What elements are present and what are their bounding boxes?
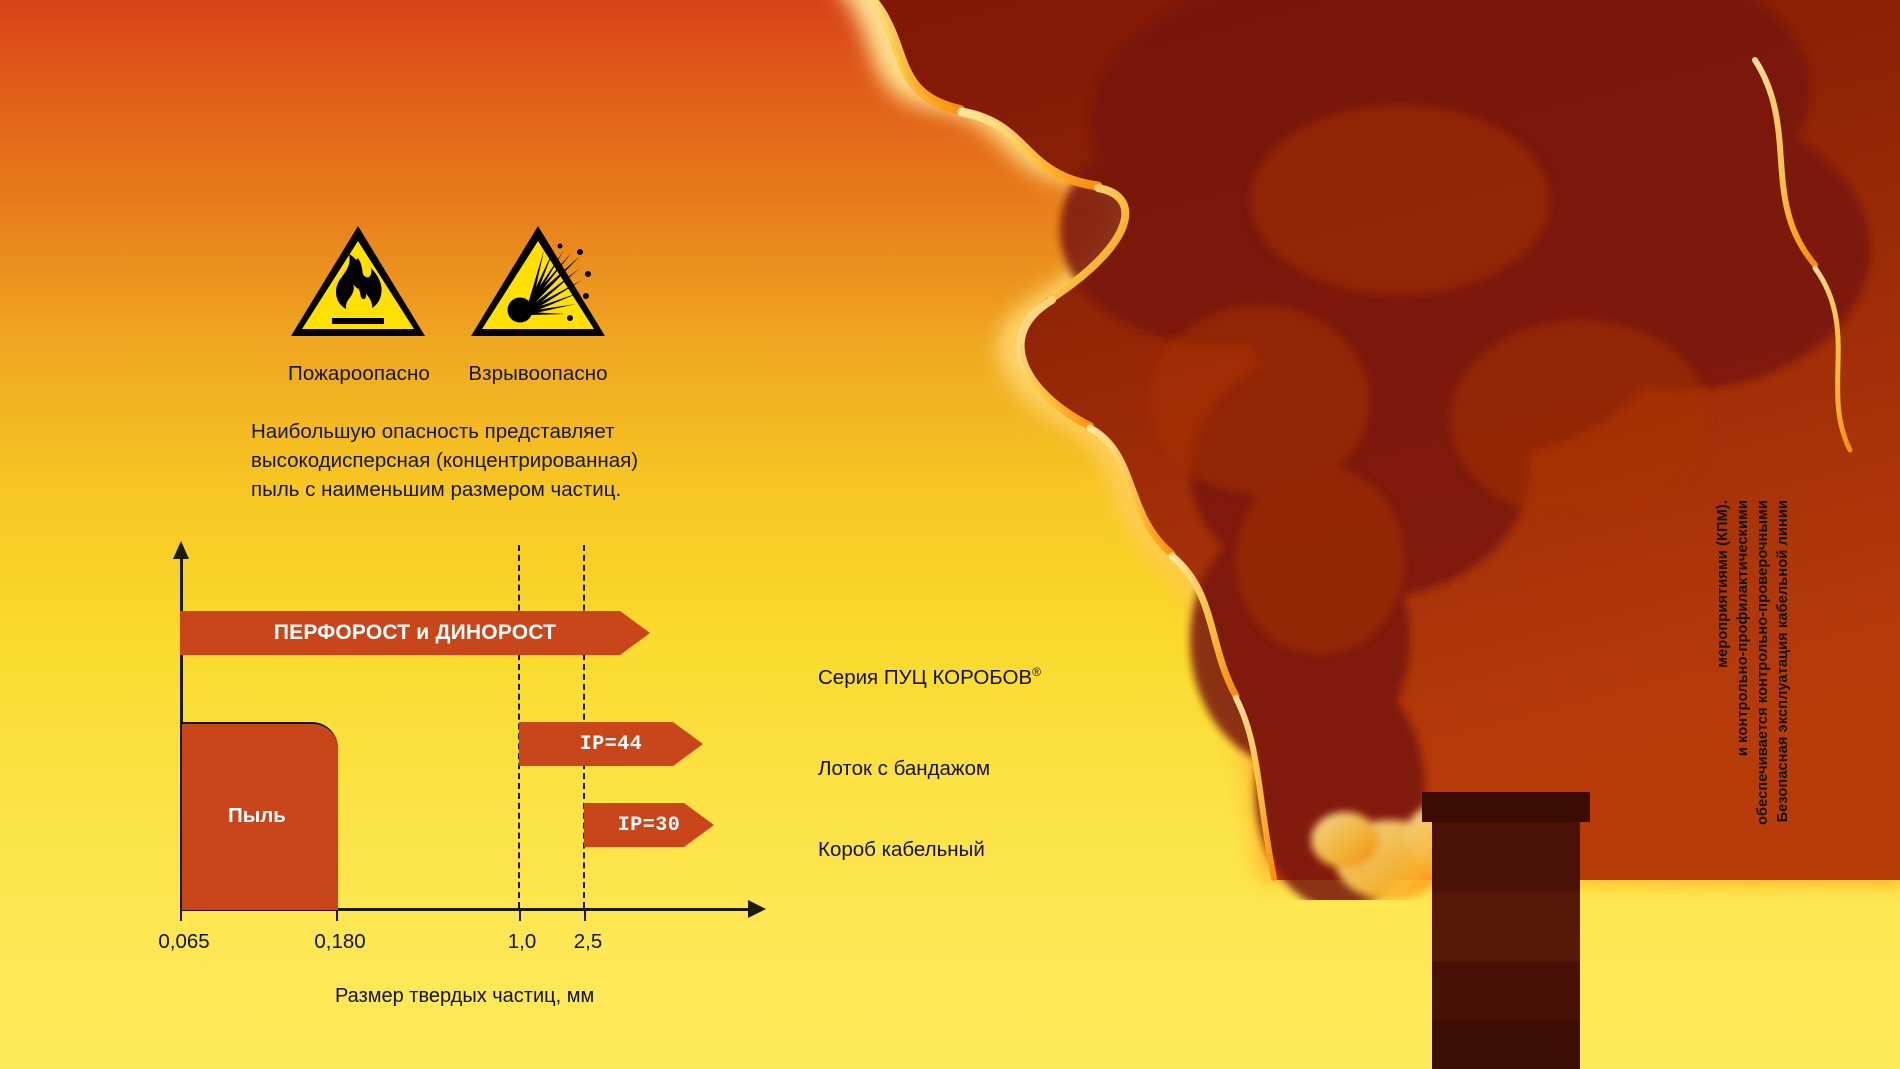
intro-line-3: пыль с наименьшим размером частиц. — [251, 475, 691, 504]
side-note: Безопасная эксплуатация кабельной линии … — [1716, 500, 1792, 960]
x-tick-label-2: 1,0 — [508, 930, 537, 954]
registered-trademark-icon: ® — [1032, 665, 1041, 679]
chimney-stack — [1432, 800, 1580, 1069]
x-tick-label-0: 0,065 — [158, 930, 209, 954]
legend-label: Серия ПУЦ КОРОБОВ — [818, 666, 1032, 689]
flammable-icon — [288, 222, 428, 340]
hazard-sign-group: Пожароопасно — [288, 222, 608, 386]
x-tick-label-3: 2,5 — [574, 930, 603, 954]
hazard-sign-label: Пожароопасно — [288, 362, 428, 386]
bar-ip30[interactable]: IP=30 — [584, 803, 714, 847]
hazard-sign-explosive: Взрывоопасно — [468, 222, 608, 386]
side-note-line-4: мероприятиями (КПМ). — [1712, 500, 1736, 668]
legend-item-lotok: Лоток с бандажом — [818, 757, 990, 781]
bar-label: ПЕРФОРОСТ и ДИНОРОСТ — [274, 621, 556, 645]
intro-line-2: высокодисперсная (концентрированная) — [251, 446, 691, 475]
legend-item-puc-korobov: Серия ПУЦ КОРОБОВ® — [818, 665, 1041, 690]
legend-label: Лоток с бандажом — [818, 757, 990, 780]
hazard-sign-label: Взрывоопасно — [468, 362, 608, 386]
x-tick-2 — [519, 908, 521, 921]
y-axis-arrowhead — [173, 541, 189, 559]
hazard-sign-flammable: Пожароопасно — [288, 222, 428, 386]
intro-line-1: Наибольшую опасность представляет — [251, 417, 691, 446]
bar-dust-block[interactable]: Пыль — [180, 722, 338, 910]
x-tick-3 — [584, 908, 586, 921]
poster-canvas: Пожароопасно — [0, 0, 1900, 1069]
bar-label: IP=44 — [580, 733, 643, 756]
legend-label: Короб кабельный — [818, 838, 985, 861]
bar-ip44[interactable]: IP=44 — [519, 722, 703, 766]
bar-perforost-dinorost[interactable]: ПЕРФОРОСТ и ДИНОРОСТ — [180, 611, 650, 655]
particle-size-chart: ПЕРФОРОСТ и ДИНОРОСТ Пыль IP=44 IP=30 0,… — [140, 545, 840, 945]
stack-rim — [1422, 792, 1590, 806]
explosive-icon — [468, 222, 608, 340]
x-tick-label-1: 0,180 — [314, 930, 365, 954]
bar-label: Пыль — [228, 804, 286, 828]
intro-paragraph: Наибольшую опасность представляет высоко… — [251, 417, 691, 504]
bar-label: IP=30 — [618, 814, 681, 837]
x-axis-arrowhead — [748, 900, 766, 918]
x-axis-title: Размер твердых частиц, мм — [335, 985, 594, 1008]
legend-item-korob: Короб кабельный — [818, 838, 985, 862]
